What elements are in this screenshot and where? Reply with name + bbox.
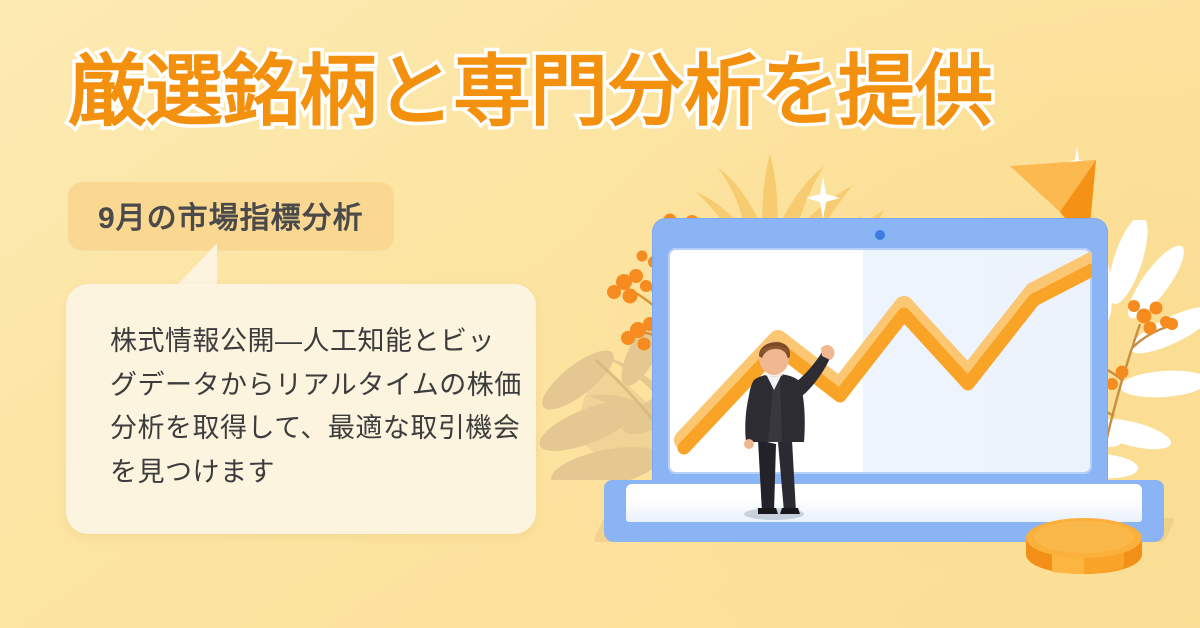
card-tail (175, 243, 217, 287)
banner-canvas: 厳選銘柄と専門分析を提供 9月の市場指標分析 株式情報公開—人工知能とビッグデー… (0, 0, 1200, 628)
description-text: 株式情報公開—人工知能とビッグデータからリアルタイムの株価分析を取得して、最適な… (110, 320, 522, 495)
businessman-figure (718, 332, 838, 520)
page-title: 厳選銘柄と専門分析を提供 (68, 52, 992, 130)
gold-coin-icon (1022, 516, 1146, 574)
sparkle-icon (806, 176, 840, 220)
status-badge: 9月の市場指標分析 (68, 182, 394, 250)
sparkle-icon (1064, 146, 1090, 180)
webcam-dot-icon (875, 230, 885, 240)
laptop-illustration: A (604, 218, 1164, 548)
